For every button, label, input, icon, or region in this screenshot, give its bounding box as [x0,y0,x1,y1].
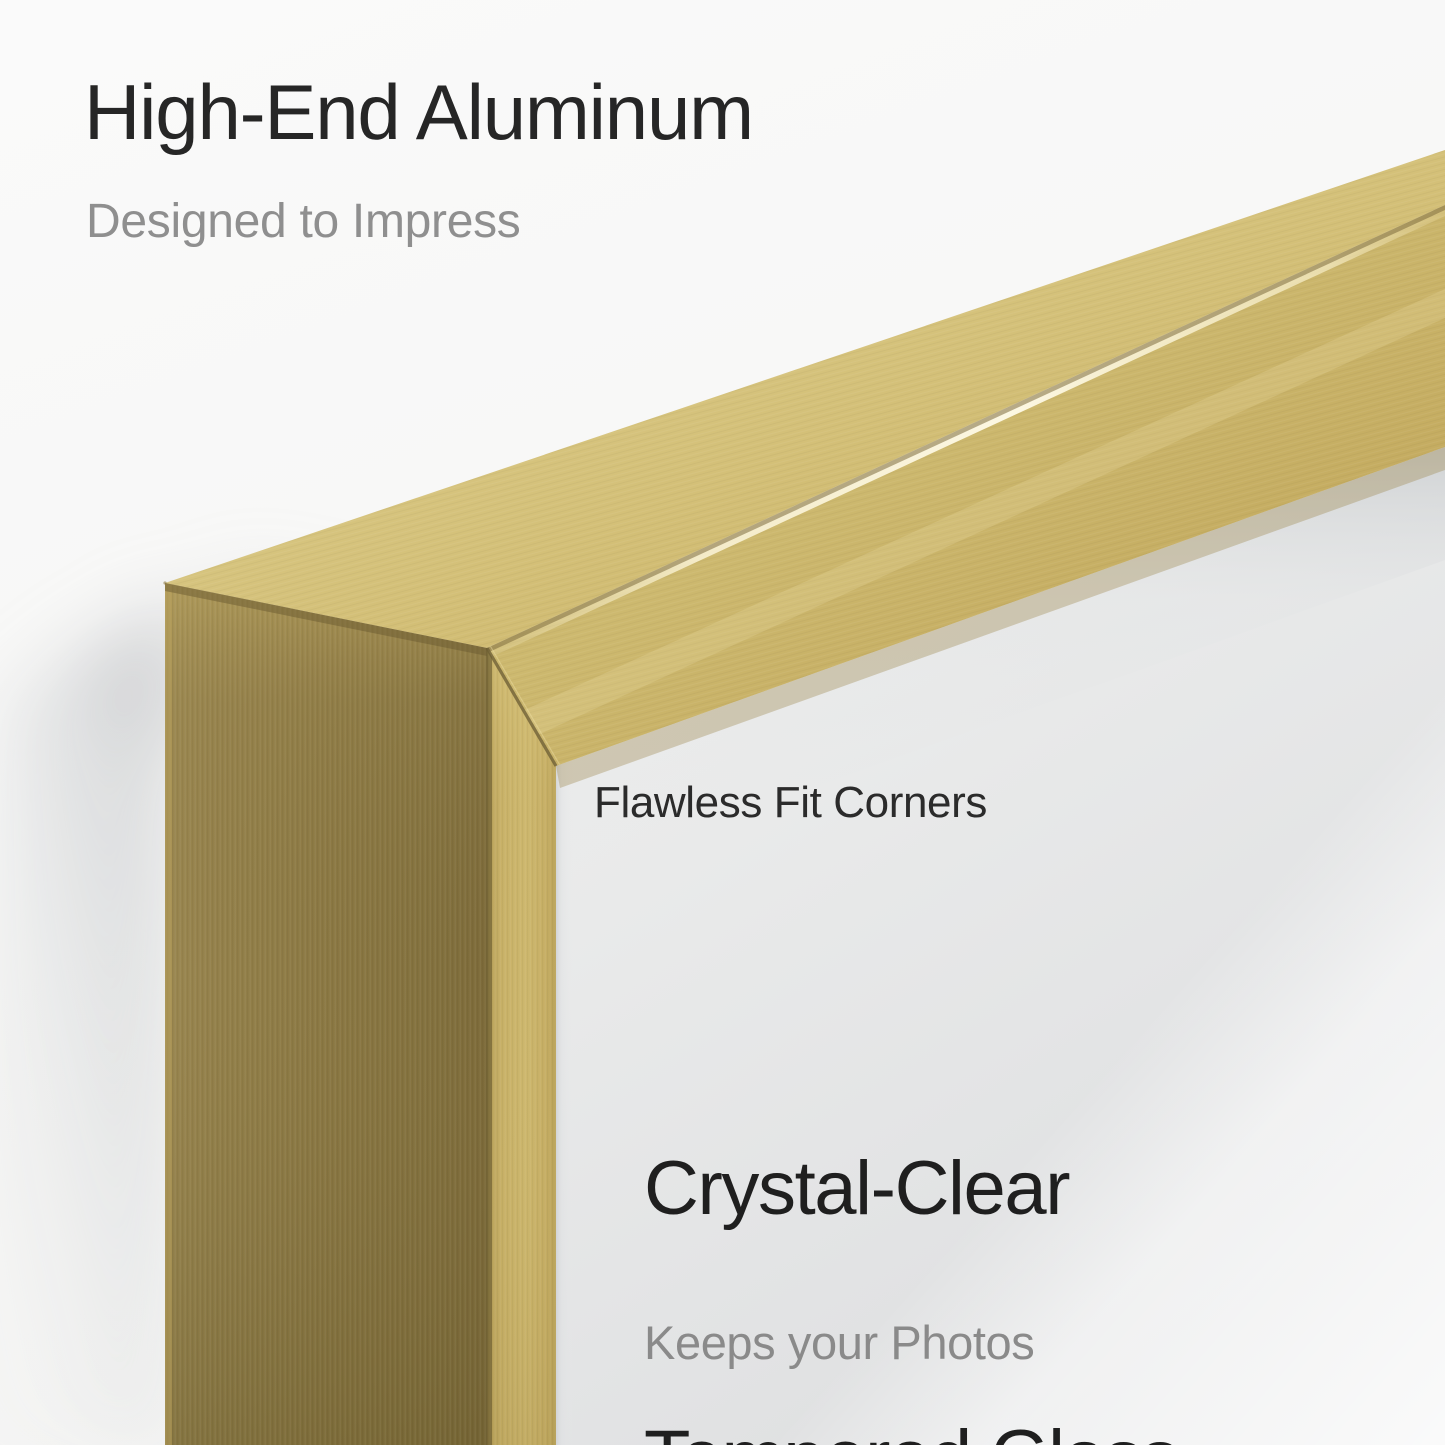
glass-callout-subtitle: Keeps your Photos Looking Sharp [644,1193,1034,1445]
frame-left-rail [140,560,570,1445]
page-subtitle: Designed to Impress [86,196,521,249]
product-feature-image: High-End Aluminum Designed to Impress Fl… [0,0,1445,1445]
corner-callout-label: Flawless Fit Corners [594,778,987,828]
glass-callout-subtitle-line1: Keeps your Photos [644,1313,1034,1373]
page-title: High-End Aluminum [84,72,753,154]
